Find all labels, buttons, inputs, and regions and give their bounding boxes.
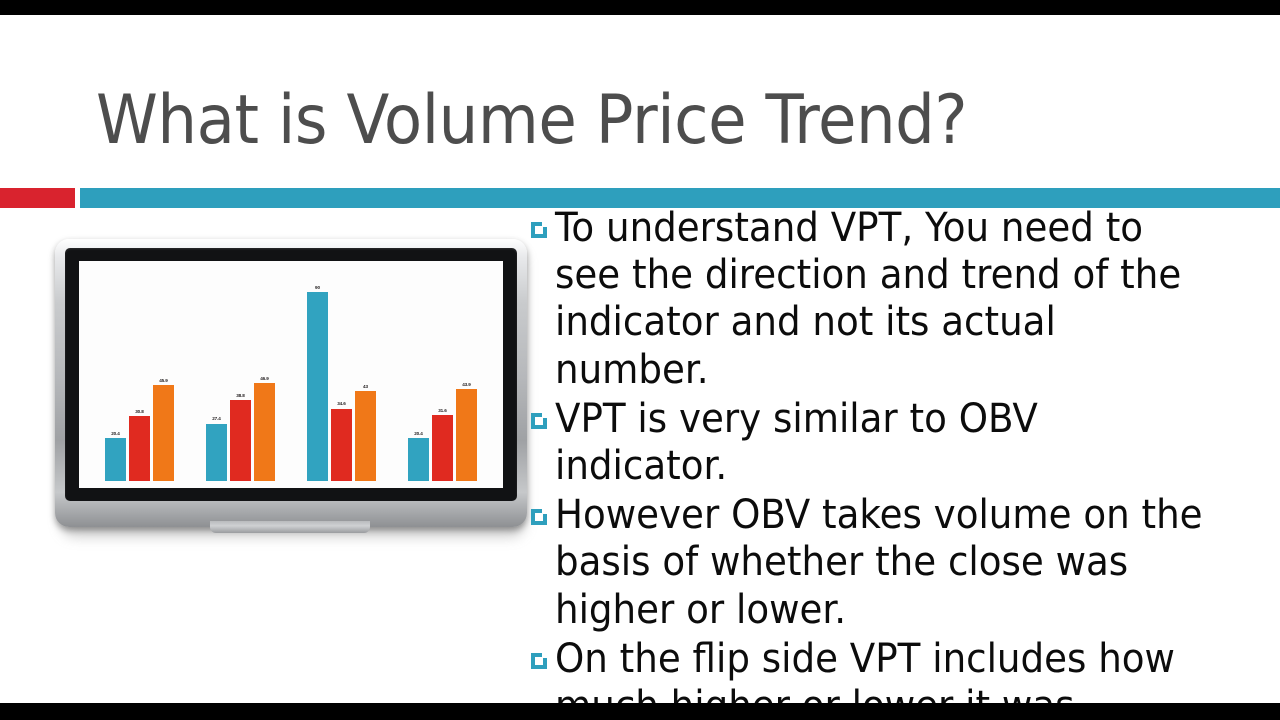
bar-value-label: 43 [363, 385, 368, 390]
bar-column: 46.9 [254, 275, 275, 481]
bar-column: 30.8 [129, 275, 150, 481]
bar-rect [153, 385, 174, 481]
bar-rect [254, 383, 275, 481]
list-item: To understand VPT, You need to see the d… [531, 205, 1253, 394]
bar-column: 31.6 [432, 275, 453, 481]
bullet-text: To understand VPT, You need to see the d… [555, 205, 1204, 394]
bar-value-label: 30.8 [135, 410, 144, 415]
bar-rect [307, 292, 328, 481]
bar-value-label: 43.9 [462, 383, 471, 388]
square-bullet-icon [531, 222, 547, 238]
bar-value-label: 34.6 [337, 402, 346, 407]
bar-rect [355, 391, 376, 481]
bar-group: 9034.643 [307, 275, 376, 481]
bar-rect [408, 438, 429, 481]
bar-value-label: 20.4 [111, 432, 120, 437]
bar-rect [129, 416, 150, 481]
bar-group: 20.431.643.9 [408, 275, 477, 481]
bar-column: 34.6 [331, 275, 352, 481]
square-bullet-icon [531, 509, 547, 525]
bar-rect [331, 409, 352, 481]
slide-root: What is Volume Price Trend? 20.430.845.9… [0, 0, 1280, 720]
list-item: VPT is very similar to OBV indicator. [531, 396, 1253, 490]
bar-value-label: 46.9 [260, 377, 269, 382]
accent-rule-red [0, 188, 75, 208]
bar-value-label: 27.4 [212, 417, 221, 422]
bar-chart-plot-area: 20.430.845.927.438.846.99034.64320.431.6… [89, 275, 493, 481]
bar-rect [230, 400, 251, 481]
bar-column: 27.4 [206, 275, 227, 481]
bar-column: 38.8 [230, 275, 251, 481]
letterbox-bar-bottom [0, 703, 1280, 720]
slide-canvas: What is Volume Price Trend? 20.430.845.9… [0, 15, 1280, 703]
list-item: However OBV takes volume on the basis of… [531, 492, 1253, 634]
bar-column: 20.4 [105, 275, 126, 481]
bar-column: 20.4 [408, 275, 429, 481]
square-bullet-icon [531, 413, 547, 429]
bar-rect [456, 389, 477, 481]
square-bullet-icon [531, 653, 547, 669]
bar-rect [105, 438, 126, 481]
letterbox-bar-top [0, 0, 1280, 15]
bar-value-label: 38.8 [236, 394, 245, 399]
list-item: On the flip side VPT includes how much h… [531, 636, 1253, 703]
bar-value-label: 45.9 [159, 379, 168, 384]
bar-column: 43 [355, 275, 376, 481]
monitor-screen: 20.430.845.927.438.846.99034.64320.431.6… [79, 261, 503, 488]
bar-group: 27.438.846.9 [206, 275, 275, 481]
bar-value-label: 20.4 [414, 432, 423, 437]
page-title: What is Volume Price Trend? [96, 87, 1108, 155]
bar-value-label: 90 [315, 286, 320, 291]
bar-chart: 20.430.845.927.438.846.99034.64320.431.6… [79, 261, 503, 488]
bar-value-label: 31.6 [438, 409, 447, 414]
bullet-text: VPT is very similar to OBV indicator. [555, 396, 1204, 490]
bar-column: 43.9 [456, 275, 477, 481]
bullet-text: On the flip side VPT includes how much h… [555, 636, 1204, 703]
computer-monitor-illustration: 20.430.845.927.438.846.99034.64320.431.6… [55, 239, 531, 539]
monitor-stand [210, 521, 370, 533]
bar-group: 20.430.845.9 [105, 275, 174, 481]
bar-rect [432, 415, 453, 481]
bar-column: 90 [307, 275, 328, 481]
bullet-text: However OBV takes volume on the basis of… [555, 492, 1204, 634]
bar-rect [206, 424, 227, 481]
bullet-list: To understand VPT, You need to see the d… [531, 205, 1253, 703]
bar-column: 45.9 [153, 275, 174, 481]
